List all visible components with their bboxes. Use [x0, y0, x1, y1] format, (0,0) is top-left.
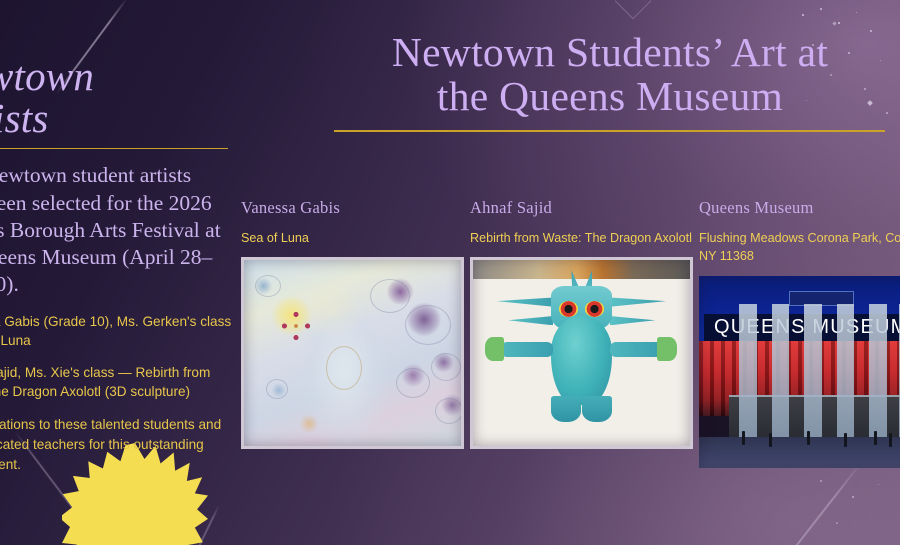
diamond-sparkle — [832, 21, 836, 25]
photo-thumbnail-queens-museum[interactable]: QUEENS MUSEUM — [699, 276, 900, 468]
page-title-line2: the Queens Museum — [334, 74, 886, 118]
diagonal-line-bottom-right — [745, 460, 863, 545]
card-title: Vanessa Gabis — [241, 198, 464, 218]
sparkle-field-bottom-right — [800, 470, 900, 545]
watercolor-painting-image — [244, 260, 461, 446]
presentation-slide: Newtown Artists Two Newtown student arti… — [0, 0, 900, 545]
left-info-panel: Newtown Artists Two Newtown student arti… — [0, 56, 232, 475]
left-panel-body-text: Two Newtown student artists have been se… — [0, 162, 232, 298]
card-title: Queens Museum — [699, 198, 900, 218]
queens-museum-night-photo: QUEENS MUSEUM — [699, 276, 900, 468]
page-title-line1: Newtown Students’ Art at — [334, 30, 886, 74]
dragon-axolotl-sculpture-image — [473, 260, 690, 446]
artwork-thumbnail-sea-of-luna[interactable] — [241, 257, 464, 449]
left-panel-title-line2: Artists — [0, 98, 232, 140]
left-panel-title: Newtown Artists — [0, 56, 232, 140]
card-subtitle: Flushing Meadows Corona Park, Corona, NY… — [699, 229, 900, 266]
card-title: Ahnaf Sajid — [470, 198, 693, 218]
page-title: Newtown Students’ Art at the Queens Muse… — [334, 30, 886, 119]
artwork-thumbnail-dragon-axolotl[interactable] — [470, 257, 693, 449]
star-motif — [279, 309, 313, 343]
card-subtitle: Rebirth from Waste: The Dragon Axolotl — [470, 229, 693, 247]
artwork-card-queens-museum: Queens Museum Flushing Meadows Corona Pa… — [699, 198, 900, 468]
list-item: • Vanessa Gabis (Grade 10), Ms. Gerken's… — [0, 312, 232, 351]
chevron-decoration-top — [615, 0, 652, 19]
artwork-card-vanessa-gabis: Vanessa Gabis Sea of Luna — [241, 198, 464, 449]
title-divider — [334, 130, 885, 132]
card-subtitle: Sea of Luna — [241, 229, 464, 247]
left-panel-bullet-list: • Vanessa Gabis (Grade 10), Ms. Gerken's… — [0, 312, 232, 402]
list-item: • Ahnaf Sajid, Ms. Xie's class — Rebirth… — [0, 363, 232, 402]
left-panel-title-line1: Newtown — [0, 56, 232, 98]
left-panel-divider — [0, 148, 228, 150]
artwork-card-ahnaf-sajid: Ahnaf Sajid Rebirth from Waste: The Drag… — [470, 198, 693, 449]
left-panel-closing-text: Congratulations to these talented studen… — [0, 415, 232, 474]
